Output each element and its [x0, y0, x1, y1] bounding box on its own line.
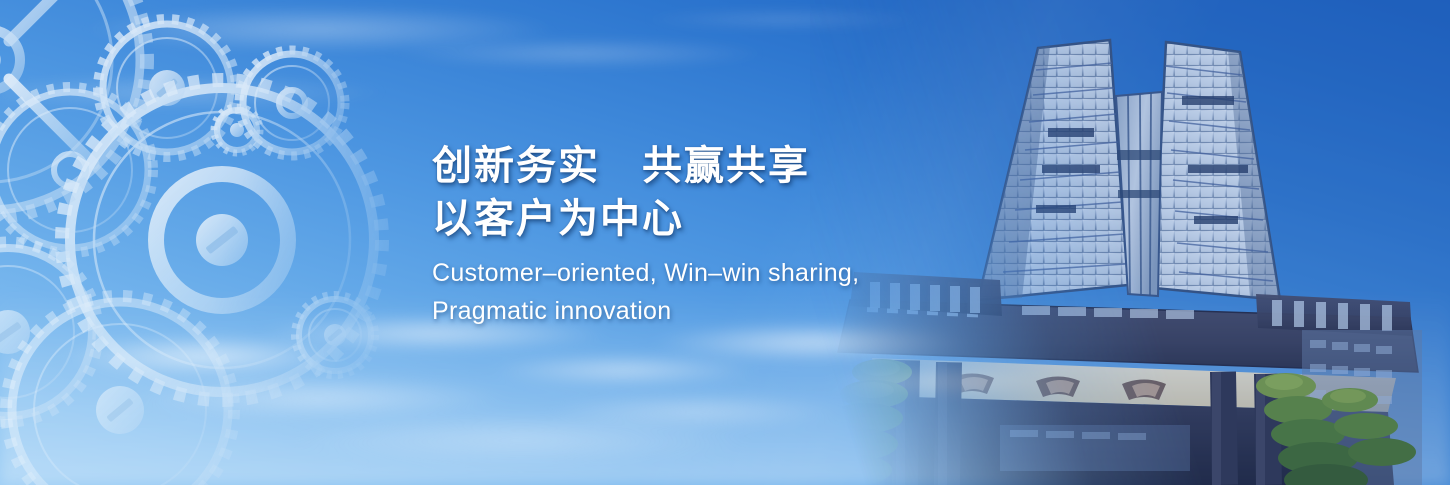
headline-line-1: 创新务实 共赢共享	[432, 140, 952, 193]
subtitle-line-2: Pragmatic innovation	[432, 294, 952, 330]
subtitle-line-1: Customer–oriented, Win–win sharing,	[432, 256, 952, 292]
gear-decoration-group	[0, 0, 450, 485]
headline-line-2: 以客户为中心	[432, 193, 952, 246]
banner-copy-block: 创新务实 共赢共享 以客户为中心 Customer–oriented, Win–…	[432, 140, 952, 329]
corporate-hero-banner: 创新务实 共赢共享 以客户为中心 Customer–oriented, Win–…	[0, 0, 1450, 485]
